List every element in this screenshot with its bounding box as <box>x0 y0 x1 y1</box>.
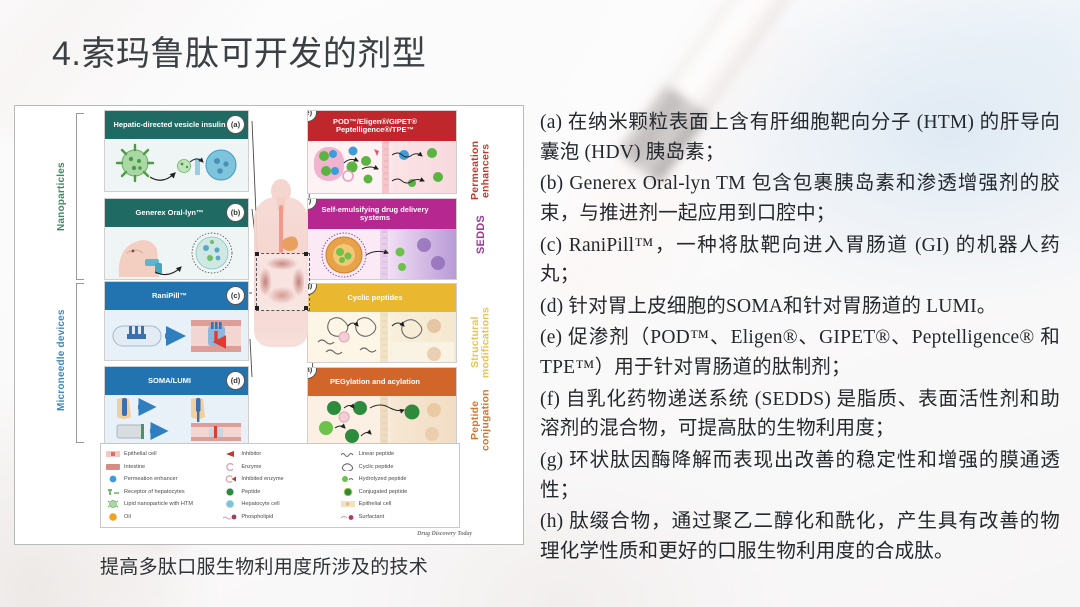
gi-anchor-bottom-right <box>304 306 308 310</box>
legend-item: Cyclic peptide <box>341 461 454 473</box>
legend-item: Permeation enhancer <box>106 473 219 485</box>
oil-icon <box>106 513 120 521</box>
figure-caption: 提高多肽口服生物利用度所涉及的技术 <box>100 552 520 579</box>
bracket-microneedle-devices <box>76 283 84 443</box>
legend-label: Hepatocyte cell <box>241 501 279 507</box>
figure-legend: Epithelial cell Intestine Permeation enh… <box>100 443 460 528</box>
hepatocyte-cell-icon <box>223 500 237 508</box>
phospholipid-icon <box>223 513 237 521</box>
legend-label: Hydrolyzed peptide <box>359 476 407 482</box>
gi-anchor-top-left <box>255 252 259 256</box>
legend-item: Phospholipid <box>223 511 336 523</box>
panel-d-illustration <box>105 395 248 443</box>
legend-item: Lipid nanoparticle with HTM <box>106 498 219 510</box>
legend-item: Receptor of hepatocytes <box>106 486 219 498</box>
legend-item: Hepatocyte cell <box>223 498 336 510</box>
panel-g-title: Cyclic peptides <box>308 284 456 312</box>
group-label-sedds: SEDDS <box>476 205 487 265</box>
legend-label: Peptide <box>241 489 260 495</box>
group-label-microneedle-devices: Microneedle devices <box>57 285 67 435</box>
legend-label: Permeation enhancer <box>124 476 178 482</box>
group-label-peptide-conjugation: Peptide conjugation <box>470 375 491 465</box>
panel-permeation-enhancers[interactable]: POD™/Eligen®/GIPET® Peptelligence®/TPE™ <box>307 110 457 194</box>
legend-item: Hydrolyzed peptide <box>341 473 454 485</box>
description-item-b: (b) Generex Oral-lyn TM 包含包裹胰岛素和渗透增强剂的胶束… <box>540 169 1060 228</box>
panel-generex-oral-lyn[interactable]: Generex Oral-lyn™ (b) <box>104 198 249 280</box>
page-title: 4.索玛鲁肽可开发的剂型 <box>52 26 426 75</box>
legend-item: Oil <box>106 511 219 523</box>
panel-f-illustration <box>308 229 456 280</box>
panel-cyclic-peptides[interactable]: Cyclic peptides (g) <box>307 283 457 363</box>
panel-tag-b: (b) <box>226 203 245 222</box>
description-item-h: (h) 肽缀合物，通过聚乙二醇化和酰化，产生具有改善的物理化学性质和更好的口服生… <box>540 507 1060 566</box>
group-label-nanoparticles: Nanoparticles <box>57 122 67 272</box>
description-item-d: (d) 针对胃上皮细胞的SOMA和针对胃肠道的 LUMI。 <box>540 292 1060 322</box>
description-item-e: (e) 促渗剂（POD™、Eligen®、GIPET®、Peptelligenc… <box>540 323 1060 382</box>
legend-label: Receptor of hepatocytes <box>124 489 185 495</box>
legend-label: Enzyme <box>241 464 261 470</box>
description-text-column: (a) 在纳米颗粒表面上含有肝细胞靶向分子 (HTM) 的肝导向囊泡 (HDV)… <box>540 108 1060 568</box>
panel-c-illustration <box>105 310 248 360</box>
panel-f-title: Self-emulsifying drug delivery systems <box>308 199 456 229</box>
enzyme-icon <box>223 463 237 471</box>
panel-tag-c: (c) <box>226 286 245 305</box>
legend-label: Cyclic peptide <box>359 464 394 470</box>
linear-peptide-icon <box>341 450 355 458</box>
legend-label: Epithelial cell <box>124 451 157 457</box>
gi-anchor-top-right <box>304 252 308 256</box>
legend-label: Oil <box>124 514 131 520</box>
legend-column-3: Linear peptide Cyclic peptide Hydrolyzed… <box>341 448 454 523</box>
legend-column-2: Inhibitor Enzyme Inhibited enzyme Peptid… <box>223 448 336 523</box>
intestine-shape <box>260 257 304 305</box>
panel-tag-d: (d) <box>226 371 245 390</box>
legend-item: Epithelial cell <box>106 448 219 460</box>
panel-e-title: POD™/Eligen®/GIPET® Peptelligence®/TPE™ <box>308 111 456 141</box>
legend-label: Lipid nanoparticle with HTM <box>124 501 193 507</box>
panel-h-title: PEGylation and acylation <box>308 368 456 396</box>
legend-item: Surfactant <box>341 511 454 523</box>
legend-label: Conjugated peptide <box>359 489 408 495</box>
description-item-f: (f) 自乳化药物递送系统 (SEDDS) 是脂质、表面活性剂和助溶剂的混合物，… <box>540 385 1060 444</box>
panel-h-illustration <box>308 396 456 444</box>
bracket-nanoparticles <box>76 113 84 280</box>
hydrolyzed-peptide-icon <box>341 475 355 483</box>
peptide-icon <box>223 488 237 496</box>
legend-item: Enzyme <box>223 461 336 473</box>
epithelial-cell-light-icon <box>341 500 355 508</box>
conjugated-peptide-icon <box>341 488 355 496</box>
legend-item: Epithelial cell <box>341 498 454 510</box>
legend-item: Intestine <box>106 461 219 473</box>
description-item-a: (a) 在纳米颗粒表面上含有肝细胞靶向分子 (HTM) 的肝导向囊泡 (HDV)… <box>540 108 1060 167</box>
inhibitor-icon <box>223 450 237 458</box>
surfactant-icon <box>341 513 355 521</box>
legend-label: Epithelial cell <box>359 501 392 507</box>
legend-label: Linear peptide <box>359 451 394 457</box>
legend-label: Inhibitor <box>241 451 261 457</box>
receptor-of-hepatocytes-icon <box>106 488 120 496</box>
legend-item: Conjugated peptide <box>341 486 454 498</box>
legend-item: Linear peptide <box>341 448 454 460</box>
legend-item: Peptide <box>223 486 336 498</box>
panel-soma-lumi[interactable]: SOMA/LUMI (d) <box>104 366 249 444</box>
intestine-icon <box>106 463 120 471</box>
panel-pegylation-acylation[interactable]: PEGylation and acylation <box>307 367 457 445</box>
cyclic-peptide-icon <box>341 463 355 471</box>
panel-e-illustration <box>308 141 456 194</box>
legend-label: Surfactant <box>359 514 385 520</box>
panel-hepatic-directed-vesicle-insulin[interactable]: Hepatic-directed vesicle insulin (a) <box>104 110 249 192</box>
legend-label: Phospholipid <box>241 514 273 520</box>
panel-g-illustration <box>308 312 456 362</box>
legend-label: Intestine <box>124 464 145 470</box>
permeation-enhancer-icon <box>106 475 120 483</box>
legend-item: Inhibited enzyme <box>223 473 336 485</box>
legend-item: Inhibitor <box>223 448 336 460</box>
gi-anchor-bottom-left <box>255 306 259 310</box>
legend-column-1: Epithelial cell Intestine Permeation enh… <box>106 448 219 523</box>
panel-tag-a: (a) <box>226 115 245 134</box>
inhibited-enzyme-icon <box>223 475 237 483</box>
panel-b-illustration <box>105 227 248 279</box>
human-body-diagram <box>244 175 318 360</box>
panel-ranipill[interactable]: RaniPill™ (c) <box>104 281 249 361</box>
panel-sedds[interactable]: Self-emulsifying drug delivery systems <box>307 198 457 280</box>
panel-a-illustration <box>105 139 248 191</box>
description-item-g: (g) 环状肽因酶降解而表现出改善的稳定性和增强的膜通透性； <box>540 446 1060 505</box>
description-item-c: (c) RaniPill™，一种将肽靶向进入胃肠道 (GI) 的机器人药丸； <box>540 231 1060 290</box>
legend-label: Inhibited enzyme <box>241 476 283 482</box>
epithelial-cell-icon <box>106 450 120 458</box>
lipid-nanoparticle-with-htm-icon <box>106 500 120 508</box>
